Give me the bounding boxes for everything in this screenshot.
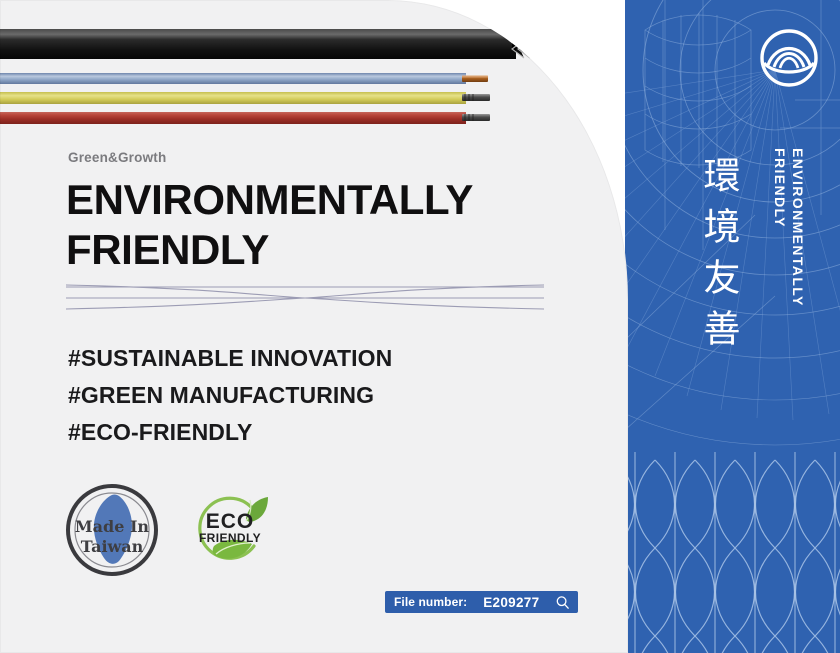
vertical-chinese-title: 環境友善 <box>692 156 744 360</box>
vertical-english-line1: ENVIRONMENTALLY <box>790 148 806 307</box>
blue-side-panel: 環境友善 ENVIRONMENTALLY FRIENDLY <box>625 0 840 653</box>
company-logo-icon <box>758 27 820 89</box>
page-title-line2: FRIENDLY <box>66 225 586 275</box>
eco-friendly-badge: ECO FRIENDLY <box>188 488 272 577</box>
vertical-english-line2: FRIENDLY <box>772 148 788 307</box>
hashtag-list: #SUSTAINABLE INNOVATION #GREEN MANUFACTU… <box>68 340 392 451</box>
poster-canvas: 環境友善 ENVIRONMENTALLY FRIENDLY <box>0 0 840 653</box>
certification-badges: Made In Taiwan ECO FRIENDLY <box>64 482 272 583</box>
magnifier-icon[interactable] <box>555 595 570 610</box>
file-number-value: E209277 <box>483 595 539 610</box>
cable-artwork <box>0 0 628 135</box>
page-title-line1: ENVIRONMENTALLY <box>66 175 586 225</box>
eco-badge-line1: ECO <box>206 510 255 533</box>
page-title: ENVIRONMENTALLY FRIENDLY <box>66 175 586 275</box>
hashtag-item: #ECO-FRIENDLY <box>68 414 392 451</box>
taiwan-badge-line2: Taiwan <box>81 537 144 556</box>
content-panel: Green&Growth ENVIRONMENTALLY FRIENDLY #S… <box>0 0 628 653</box>
made-in-taiwan-badge: Made In Taiwan <box>64 482 160 583</box>
eco-badge-line2: FRIENDLY <box>199 531 261 545</box>
hashtag-item: #SUSTAINABLE INNOVATION <box>68 340 392 377</box>
eyebrow-label: Green&Growth <box>68 150 166 165</box>
wire-divider <box>66 282 544 314</box>
file-number-label: File number: <box>394 595 467 609</box>
hashtag-item: #GREEN MANUFACTURING <box>68 377 392 414</box>
vertical-english-title: ENVIRONMENTALLY FRIENDLY <box>772 148 806 307</box>
taiwan-badge-line1: Made In <box>75 517 150 536</box>
file-number-badge[interactable]: File number: E209277 <box>385 591 578 613</box>
